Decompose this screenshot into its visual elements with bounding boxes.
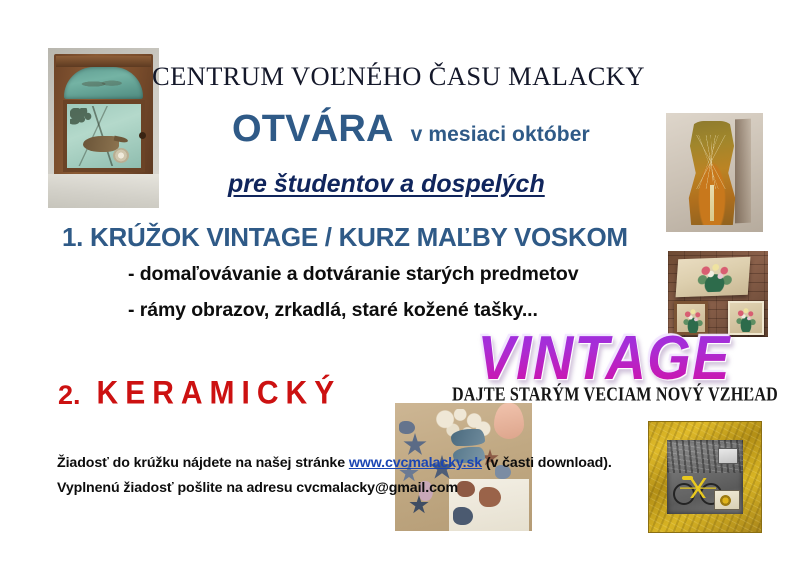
cabinet-knob [139, 132, 146, 139]
section-one-bullet-1: - domaľovávanie a dotváranie starých pre… [128, 263, 579, 286]
bicycle-frame-yellow [680, 478, 716, 498]
footer-line-2: Vyplnenú žiadosť pošlite na adresu cvcma… [57, 480, 612, 496]
clay-piece-a [399, 421, 415, 434]
vintage-logo-tagline: DAJTE STARÝM VECIAM NOVÝ VZHĽAD [452, 382, 752, 406]
section-one-bullet-2: - rámy obrazov, zrkadlá, staré kožené ta… [128, 299, 538, 322]
headline-row: OTVÁRA v mesiaci október [232, 108, 590, 151]
cloth-surface [48, 174, 159, 208]
cabinet-door-panel [67, 104, 141, 168]
cabinet-arch-decoupage-panel [64, 67, 143, 99]
floral-vase-motif-large [692, 261, 738, 293]
bicycle-photograph [667, 440, 743, 514]
tree-trunk [710, 185, 714, 221]
large-box-lid [676, 257, 751, 297]
cabinet-body [54, 54, 153, 179]
audience-line: pre študentov a dospelých [228, 170, 545, 199]
rose-motif [113, 148, 129, 163]
cabinet-top-rail [56, 56, 151, 67]
section-two-number: 2. [58, 380, 81, 411]
footer-line-1-prefix: Žiadosť do krúžku nájdete na našej strán… [57, 455, 349, 471]
website-link[interactable]: www.cvcmalacky.sk [349, 455, 482, 471]
golden-tree-motif [690, 135, 734, 221]
headline-opens-word: OTVÁRA [232, 108, 394, 151]
clay-fish-1 [451, 429, 485, 446]
organization-title: CENTRUM VOĽNÉHO ČASU MALACKY [152, 61, 672, 92]
leaves-motif [70, 108, 100, 136]
wooden-key-cabinet-image [48, 48, 159, 208]
decorative-tree-vase-image [666, 113, 763, 232]
vintage-logo: VINTAGE DAJTE STARÝM VECIAM NOVÝ VZHĽAD [430, 327, 778, 409]
footer-contact-block: Žiadosť do krúžku nájdete na našej strán… [57, 455, 612, 505]
poster-canvas: CENTRUM VOĽNÉHO ČASU MALACKY OTVÁRA v me… [0, 0, 800, 567]
section-one-title: 1. KRÚŽOK VINTAGE / KURZ MAĽBY VOSKOM [62, 222, 628, 253]
footer-line-1: Žiadosť do krúžku nájdete na našej strán… [57, 455, 612, 471]
clay-piece-e [453, 507, 473, 525]
clay-star-1 [403, 433, 427, 457]
bird-motif [83, 136, 119, 152]
small-sign-card [714, 490, 740, 510]
bicycle-yellow-frame-image [648, 421, 762, 533]
footer-line-1-suffix: (v časti download). [482, 455, 612, 471]
wall-poster [718, 448, 738, 464]
section-two-heading: 2. KERAMICKÝ [58, 378, 341, 412]
bicycle-saddle [682, 476, 693, 480]
section-two-title: KERAMICKÝ [97, 375, 342, 412]
headline-month-suffix: v mesiaci október [411, 123, 590, 147]
tree-canopy [690, 135, 734, 189]
cabinet-door [63, 100, 145, 172]
vase-wall-shadow [735, 119, 751, 224]
